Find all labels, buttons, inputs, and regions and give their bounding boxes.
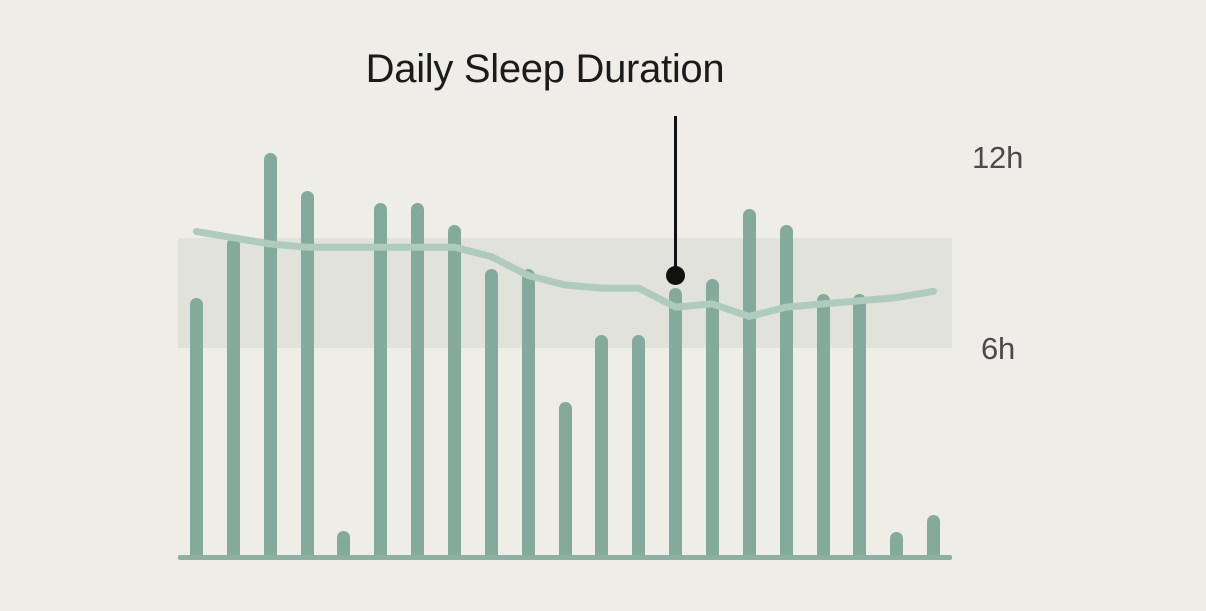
x-axis-baseline xyxy=(178,555,952,560)
bar xyxy=(411,203,424,555)
bar xyxy=(706,279,719,555)
bar xyxy=(301,191,314,556)
bar xyxy=(890,532,903,555)
bar xyxy=(227,238,240,555)
y-axis-tick-12h: 12h xyxy=(972,140,1023,176)
annotation-dot xyxy=(666,266,685,285)
chart-title: Daily Sleep Duration xyxy=(0,47,1090,92)
bar xyxy=(374,203,387,555)
bar xyxy=(595,335,608,555)
bar xyxy=(559,402,572,555)
bar xyxy=(853,294,866,555)
bar xyxy=(485,269,498,555)
bar xyxy=(817,294,830,555)
chart-canvas: Daily Sleep Duration 12h 6h xyxy=(0,0,1206,611)
bar xyxy=(448,225,461,555)
normal-range-band xyxy=(178,238,952,348)
bar xyxy=(669,288,682,555)
bar xyxy=(522,269,535,555)
bar xyxy=(743,209,756,555)
bar xyxy=(190,298,203,555)
bar xyxy=(632,335,645,555)
bar xyxy=(780,225,793,555)
y-axis-tick-6h: 6h xyxy=(981,331,1015,367)
bar xyxy=(927,515,940,555)
annotation-leader-line xyxy=(674,116,677,276)
bar xyxy=(264,153,277,555)
bar xyxy=(337,531,350,555)
